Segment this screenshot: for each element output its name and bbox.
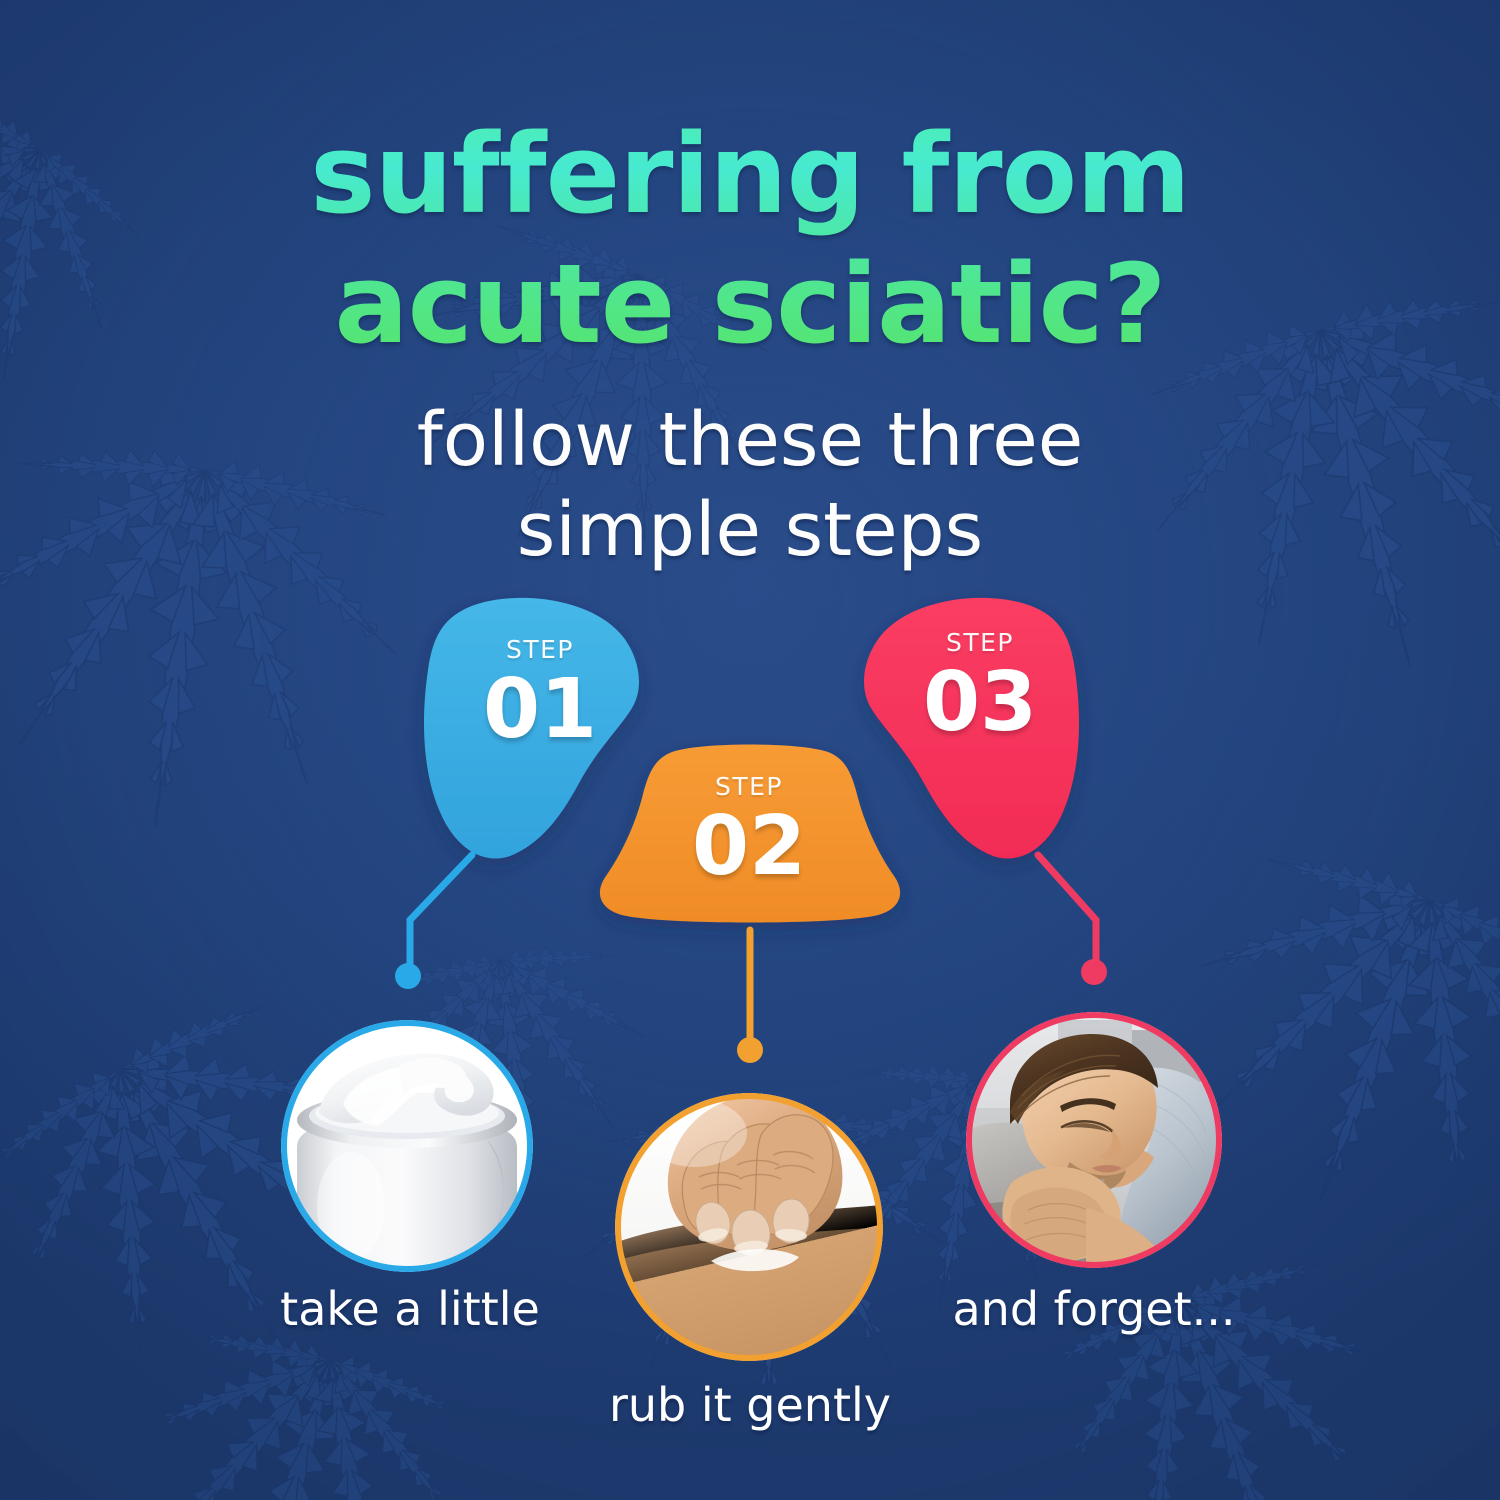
- step-3-photo-ring: [966, 1012, 1222, 1268]
- step-2-photo: [615, 1093, 883, 1361]
- step-1-photo-ring: [281, 1020, 533, 1272]
- step-3-caption: and forget...: [864, 1282, 1324, 1336]
- step-2-caption: rub it gently: [520, 1378, 980, 1432]
- step-3-photo: [966, 1012, 1222, 1268]
- connector-dot-step-2: [737, 1037, 763, 1063]
- step-2-photo-ring: [615, 1093, 883, 1361]
- step-1-shape: [424, 598, 639, 859]
- steps-diagram: STEP 01 STEP 02 STEP 03: [0, 560, 1500, 960]
- step-3-shape: [864, 598, 1079, 859]
- poster-canvas: suffering from acute sciatic? follow the…: [0, 0, 1500, 1500]
- page-title: suffering from acute sciatic?: [0, 110, 1500, 370]
- step-2-shape: [600, 745, 900, 923]
- connector-dot-step-1: [395, 963, 421, 989]
- connector-dot-step-3: [1081, 959, 1107, 985]
- step-1-caption: take a little: [180, 1282, 640, 1336]
- page-subtitle: follow these three simple steps: [0, 395, 1500, 576]
- step-1-photo: [281, 1020, 533, 1272]
